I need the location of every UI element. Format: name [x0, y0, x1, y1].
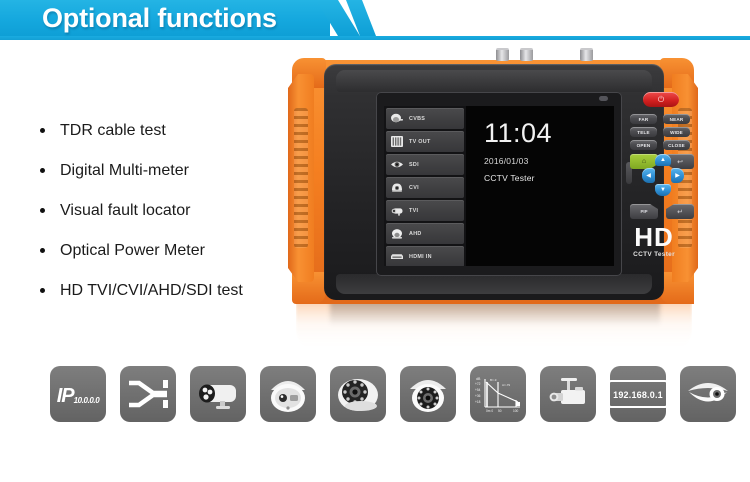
- feature-label: Digital Multi-meter: [60, 162, 189, 179]
- menu-item-label: SDI: [409, 162, 419, 168]
- bars-icon: [389, 135, 405, 149]
- svg-text:+36: +36: [475, 394, 481, 398]
- brand-logo-text: HD: [624, 224, 684, 250]
- dome-camera-icon: [389, 227, 405, 241]
- menu-item-hdmi-in[interactable]: HDMI IN: [386, 246, 464, 266]
- clock-time: 11:04: [484, 120, 614, 147]
- speaker-slot-icon: [599, 96, 608, 101]
- power-button[interactable]: ⏻: [643, 92, 679, 107]
- cctv-tester-device: CVBS TV OUT SDI: [288, 56, 698, 308]
- dpad-right-button[interactable]: ▶: [671, 168, 684, 183]
- ptz-dome-camera-icon: [680, 366, 736, 422]
- menu-item-cvbs[interactable]: CVBS: [386, 108, 464, 129]
- dpad-left-button[interactable]: ◀: [642, 168, 655, 183]
- bullet-icon: [40, 128, 45, 133]
- clock-date: 2016/01/03: [484, 156, 614, 166]
- dome-camera-icon: [389, 112, 405, 126]
- menu-item-sdi[interactable]: SDI: [386, 154, 464, 175]
- page-header-banner: Optional functions: [0, 0, 750, 42]
- capability-icon-strip: IP 10.0.0.0: [0, 366, 750, 440]
- bullet-icon: [40, 248, 45, 253]
- enter-button[interactable]: ↵: [666, 204, 694, 219]
- svg-text:+54: +54: [475, 388, 481, 392]
- page-title: Optional functions: [42, 1, 277, 35]
- far-button[interactable]: FAR: [630, 114, 657, 124]
- ip-icon-primary-text: IP: [57, 387, 74, 405]
- svg-text:+72: +72: [475, 382, 481, 386]
- list-item: Digital Multi-meter: [38, 160, 243, 181]
- device-keypad: ⏻ FAR NEAR TELE WIDE OPEN CLOSE ⌂ ↩ PIP: [630, 92, 696, 220]
- faceplate-top-bar: [336, 70, 652, 92]
- banner-underline-rule: [0, 36, 750, 40]
- menu-item-tvi[interactable]: TVI: [386, 200, 464, 221]
- brand-logo: HD CCTV Tester: [624, 224, 684, 258]
- ip-address-icon: IP 10.0.0.0: [50, 366, 106, 422]
- svg-text:0m 0: 0m 0: [486, 409, 493, 413]
- svg-text:B=-9: B=-9: [490, 378, 497, 382]
- device-grip-left: [288, 74, 314, 282]
- dome-camera-icon: [389, 181, 405, 195]
- bullet-camera-icon: [190, 366, 246, 422]
- pip-button[interactable]: PIP: [630, 204, 658, 219]
- bullet-icon: [40, 288, 45, 293]
- menu-item-label: CVBS: [409, 116, 425, 122]
- lcd-bezel: CVBS TV OUT SDI: [376, 92, 622, 276]
- wide-button[interactable]: WIDE: [663, 127, 690, 137]
- power-icon: ⏻: [658, 96, 664, 104]
- menu-item-tv-out[interactable]: TV OUT: [386, 131, 464, 152]
- pip-label: PIP: [640, 209, 647, 214]
- list-item: Visual fault locator: [38, 200, 243, 221]
- dome-camera-ir-icon: [330, 366, 386, 422]
- feature-label: Visual fault locator: [60, 202, 190, 219]
- page-root: Optional functions TDR cable test Digita…: [0, 0, 750, 482]
- bullet-icon: [40, 208, 45, 213]
- bullet-icon: [40, 168, 45, 173]
- list-item: TDR cable test: [38, 120, 243, 141]
- menu-item-label: TV OUT: [409, 139, 431, 145]
- faceplate-bottom-bar: [336, 274, 652, 294]
- ip-address-label-icon: 192.168.0.1: [610, 366, 666, 422]
- svg-text:+18: +18: [475, 400, 481, 404]
- feature-label: HD TVI/CVI/AHD/SDI test: [60, 282, 243, 299]
- menu-item-label: TVI: [409, 208, 418, 214]
- ip-address-text: 192.168.0.1: [613, 390, 663, 400]
- bullet-camera-icon: [389, 204, 405, 218]
- menu-item-cvi[interactable]: CVI: [386, 177, 464, 198]
- svg-text:100: 100: [513, 409, 519, 413]
- tdr-waveform-icon: dB +72 +54 +36 +18 0m 0 50 100 B=-9 A=-7…: [470, 366, 526, 422]
- menu-item-ahd[interactable]: AHD: [386, 223, 464, 244]
- bnc-connector: [520, 48, 533, 61]
- dpad-up-button[interactable]: ▲: [655, 154, 671, 166]
- device-faceplate: CVBS TV OUT SDI: [324, 64, 664, 300]
- dpad-down-button[interactable]: ▼: [655, 184, 671, 196]
- menu-item-label: CVI: [409, 185, 419, 191]
- screen-menu-list[interactable]: CVBS TV OUT SDI: [384, 106, 466, 266]
- dpad-control: ▲ ◀ ▶ ▼: [642, 154, 684, 196]
- device-name-label: CCTV Tester: [484, 173, 614, 183]
- open-button[interactable]: OPEN: [630, 140, 657, 150]
- turret-camera-icon: [260, 366, 316, 422]
- bnc-connector: [580, 48, 593, 61]
- feature-label: TDR cable test: [60, 122, 166, 139]
- eyeball-camera-icon: [400, 366, 456, 422]
- enter-arrow-icon: ↵: [677, 208, 683, 216]
- eye-camera-icon: [389, 158, 405, 172]
- lcd-screen[interactable]: CVBS TV OUT SDI: [384, 106, 614, 266]
- crossover-cable-icon: [120, 366, 176, 422]
- svg-text:dB: dB: [476, 377, 481, 381]
- menu-item-label: HDMI IN: [409, 254, 432, 260]
- brand-logo-subtext: CCTV Tester: [624, 251, 684, 258]
- list-item: Optical Power Meter: [38, 240, 243, 261]
- tele-button[interactable]: TELE: [630, 127, 657, 137]
- near-button[interactable]: NEAR: [663, 114, 690, 124]
- hdmi-icon: [389, 250, 405, 264]
- svg-text:A=-79: A=-79: [502, 383, 510, 387]
- feature-label: Optical Power Meter: [60, 242, 205, 259]
- ip-icon-secondary-text: 10.0.0.0: [74, 397, 100, 405]
- bnc-connector: [496, 48, 509, 61]
- feature-list: TDR cable test Digital Multi-meter Visua…: [38, 120, 243, 320]
- box-camera-icon: [540, 366, 596, 422]
- ip-address-box: 192.168.0.1: [610, 380, 666, 408]
- close-button[interactable]: CLOSE: [663, 140, 690, 150]
- list-item: HD TVI/CVI/AHD/SDI test: [38, 280, 243, 301]
- svg-text:50: 50: [498, 409, 502, 413]
- screen-clock-pane: 11:04 2016/01/03 CCTV Tester: [466, 106, 614, 266]
- menu-item-label: AHD: [409, 231, 422, 237]
